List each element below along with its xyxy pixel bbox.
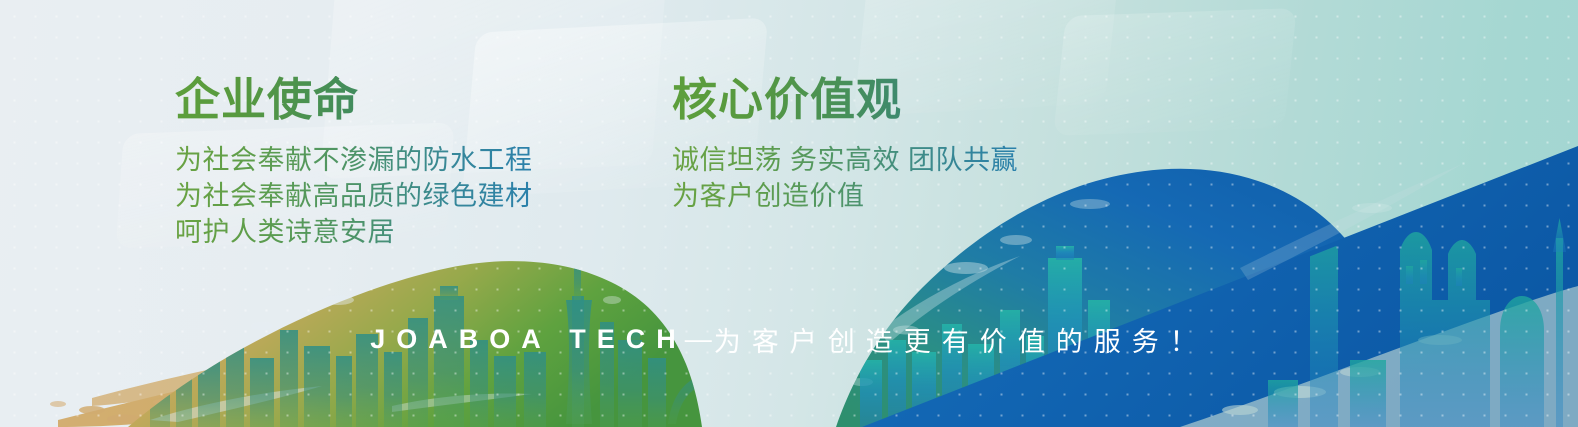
core-values-line: 诚信坦荡 务实高效 团队共赢 [672,143,1018,179]
mission-line-list: 为社会奉献不渗漏的防水工程 为社会奉献高品质的绿色建材 呵护人类诗意安居 [175,143,533,251]
bottom-tagline: JOABOA TECH—为客户创造更有价值的服务！ [0,320,1578,359]
core-values-line-list: 诚信坦荡 务实高效 团队共赢 为客户创造价值 [672,143,1018,215]
mission-line: 为社会奉献高品质的绿色建材 [175,179,533,215]
brand-name: JOABOA TECH [370,324,687,354]
mission-heading: 企业使命 [175,76,533,123]
core-values-heading: 核心价值观 [672,76,1018,123]
mission-line: 为社会奉献不渗漏的防水工程 [175,143,533,179]
decorative-panel-5 [1053,8,1297,136]
core-values-column: 核心价值观 诚信坦荡 务实高效 团队共赢 为客户创造价值 [672,76,1018,215]
tagline-slogan: 为客户创造更有价值的服务！ [714,327,1208,357]
tagline-dash: — [685,324,712,354]
mission-column: 企业使命 为社会奉献不渗漏的防水工程 为社会奉献高品质的绿色建材 呵护人类诗意安… [175,76,533,251]
core-values-line: 为客户创造价值 [672,179,1018,215]
company-mission-banner: 企业使命 为社会奉献不渗漏的防水工程 为社会奉献高品质的绿色建材 呵护人类诗意安… [0,0,1578,427]
mission-line: 呵护人类诗意安居 [175,215,533,251]
